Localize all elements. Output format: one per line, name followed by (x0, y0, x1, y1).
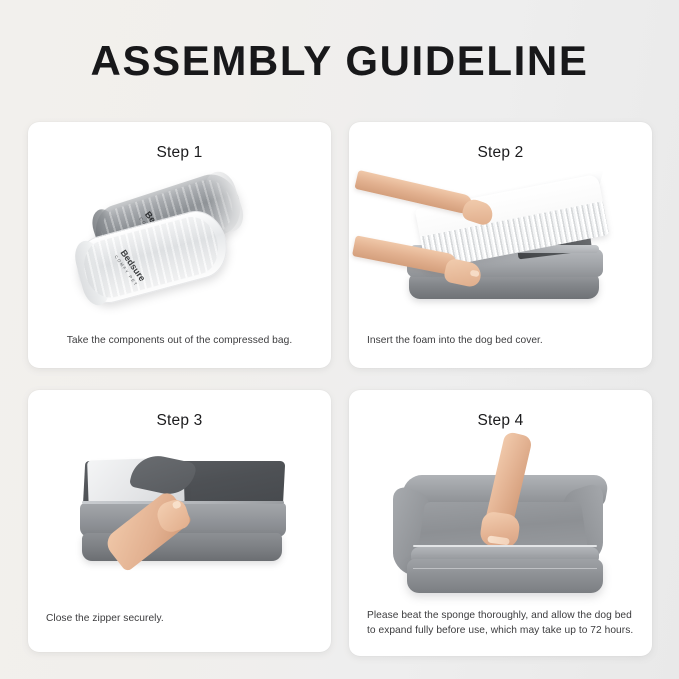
step-card-2: Step 2 Insert the foam into the dog bed … (349, 122, 652, 368)
compressed-bags-scene: Bedsure COMFY PET Bedsure COMFY PET (46, 161, 313, 334)
steps-grid: Step 1 Bedsure COMFY PET Bedsure (28, 122, 652, 656)
assembly-guideline-page: ASSEMBLY GUIDELINE Step 1 Bedsure COMFY … (0, 0, 679, 679)
step-1-caption: Take the components out of the compresse… (46, 334, 313, 368)
step-card-1: Step 1 Bedsure COMFY PET Bedsure (28, 122, 331, 368)
step-card-3: Step 3 Close the zipper securely. (28, 390, 331, 652)
step-1-illustration: Bedsure COMFY PET Bedsure COMFY PET (46, 161, 313, 334)
bed-base (407, 559, 603, 593)
step-4-illustration (367, 429, 634, 610)
foam-insertion-scene (367, 161, 634, 334)
step-2-illustration (367, 161, 634, 334)
upper-arm (354, 169, 473, 214)
step-3-heading: Step 3 (46, 413, 313, 429)
step-4-caption: Please beat the sponge thoroughly, and a… (367, 609, 634, 656)
zipper-scene (46, 429, 313, 612)
step-4-heading: Step 4 (367, 413, 634, 429)
bed-piping (413, 545, 597, 548)
step-3-illustration (46, 429, 313, 612)
step-3-caption: Close the zipper securely. (46, 612, 313, 652)
step-2-heading: Step 2 (367, 145, 634, 161)
assembled-bed-scene (367, 429, 634, 610)
page-title: ASSEMBLY GUIDELINE (0, 40, 679, 82)
step-2-caption: Insert the foam into the dog bed cover. (367, 334, 634, 368)
step-1-heading: Step 1 (46, 145, 313, 161)
step-card-4: Step 4 Please beat the sponge thoroughly… (349, 390, 652, 656)
